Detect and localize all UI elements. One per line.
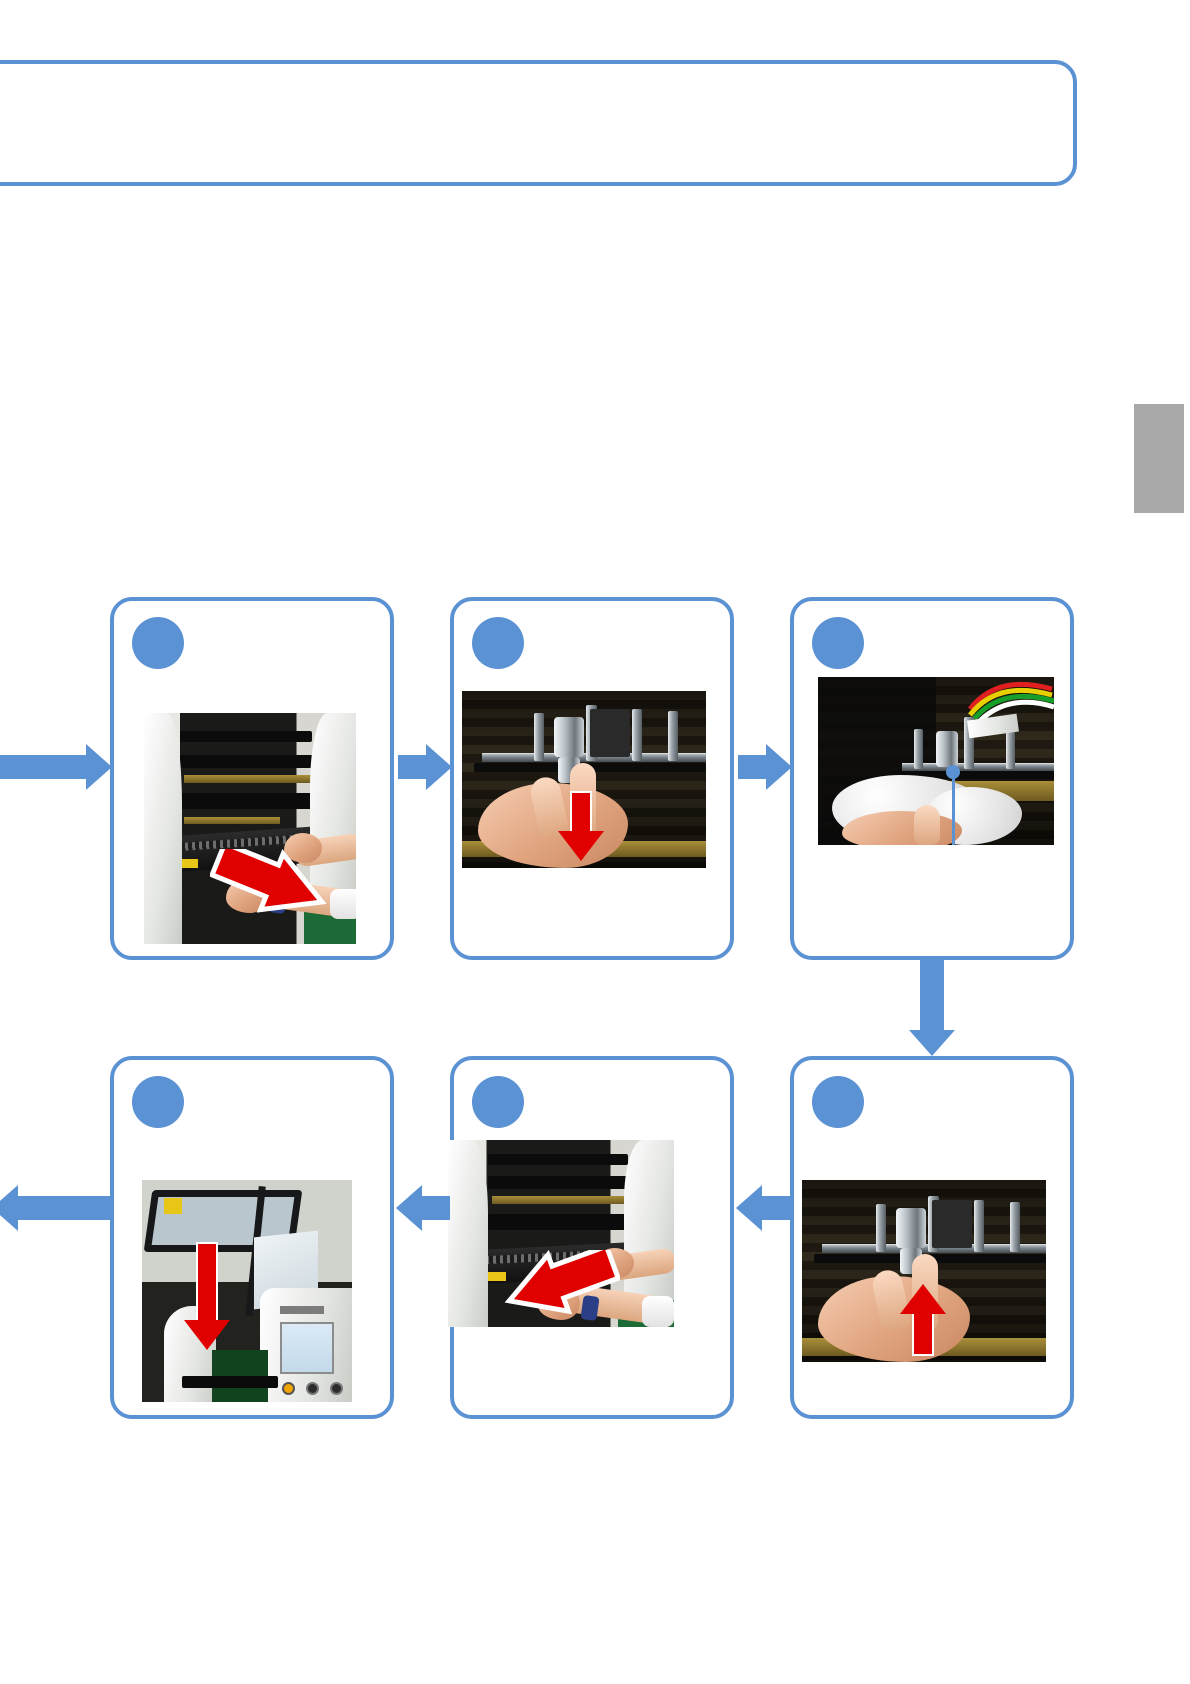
machine-cover-left: [144, 713, 182, 944]
conveyor-rail: [182, 1376, 278, 1388]
step-photo-6: [142, 1180, 352, 1402]
arrow-head: [766, 744, 792, 790]
panel-button[interactable]: [306, 1382, 319, 1395]
warning-label: [164, 1198, 182, 1214]
machine-rail: [488, 1154, 628, 1165]
flow-step-card-3[interactable]: [790, 597, 1074, 960]
arrow-shaft: [398, 755, 428, 779]
red-arrow-shaft: [570, 791, 592, 835]
head-post: [914, 729, 923, 769]
arrow-head: [86, 744, 112, 790]
head-post: [534, 713, 544, 761]
flow-step-card-5[interactable]: [450, 1056, 734, 1419]
connector-in: [0, 744, 112, 790]
machine-beam: [184, 775, 312, 783]
head-post: [1010, 1202, 1020, 1252]
panel-button[interactable]: [330, 1382, 343, 1395]
step-badge-3: [812, 617, 864, 669]
machine-beam: [492, 1196, 626, 1204]
step-photo-1: [144, 713, 356, 944]
machine-beam: [184, 817, 280, 824]
step-badge-1: [132, 617, 184, 669]
red-arrow-close-cover: [184, 1242, 230, 1350]
connector-4-5: [736, 1185, 790, 1231]
arrow-head: [736, 1185, 762, 1231]
machine-rail: [488, 1214, 630, 1230]
machine-rail: [488, 1176, 636, 1189]
red-arrow-head: [184, 1320, 230, 1350]
head-post: [974, 1200, 984, 1252]
callout-leader-line: [952, 772, 955, 845]
step-photo-2: [462, 691, 706, 868]
red-arrow-pull-out: [210, 849, 330, 921]
red-arrow-head: [558, 831, 604, 861]
head-post: [632, 709, 642, 761]
connector-out: [0, 1185, 112, 1231]
connector-5-6: [396, 1185, 450, 1231]
operator-finger: [914, 805, 940, 845]
head-post: [668, 711, 678, 761]
connector-3-4: [909, 960, 955, 1056]
arrow-shaft: [16, 1196, 112, 1220]
red-arrow-shaft: [196, 1242, 218, 1322]
flow-step-card-4[interactable]: [790, 1056, 1074, 1419]
red-arrow-pull-down: [558, 791, 604, 861]
step-photo-3: [818, 677, 1054, 845]
step-badge-4: [812, 1076, 864, 1128]
arrow-shaft: [760, 1196, 790, 1220]
arrow-shaft: [920, 960, 944, 1030]
top-callout-box: [0, 60, 1077, 186]
arrow-head: [909, 1030, 955, 1056]
step-photo-4: [802, 1180, 1046, 1362]
machine-rail: [180, 731, 312, 742]
red-arrow-head: [900, 1284, 946, 1314]
arrow-head: [396, 1185, 422, 1231]
red-arrow-push-in: [504, 1250, 620, 1320]
feeder-label: [180, 859, 198, 868]
flow-step-card-6[interactable]: [110, 1056, 394, 1419]
flow-step-card-2[interactable]: [450, 597, 734, 960]
connector-1-2: [398, 744, 452, 790]
red-arrow-shaft: [912, 1310, 934, 1356]
machine-rail: [180, 755, 320, 768]
machine-cover-left: [448, 1140, 488, 1327]
head-block: [590, 709, 630, 757]
arrow-shaft: [0, 755, 86, 779]
head-block: [932, 1200, 972, 1248]
arrow-shaft: [738, 755, 768, 779]
machine-rail: [180, 793, 316, 809]
operator-sleeve: [330, 889, 356, 919]
arrow-head: [426, 744, 452, 790]
panel-brand-label: [280, 1306, 324, 1314]
panel-button[interactable]: [282, 1382, 295, 1395]
step-photo-5: [448, 1140, 674, 1327]
head-crossbar: [902, 763, 1054, 771]
nozzle-barrel: [936, 731, 958, 767]
connector-2-3: [738, 744, 792, 790]
operator-hand: [842, 811, 962, 845]
step-badge-5: [472, 1076, 524, 1128]
nozzle-barrel: [896, 1208, 926, 1248]
head-post: [876, 1204, 886, 1252]
operator-panel-screen: [280, 1322, 334, 1374]
operator-sleeve: [642, 1296, 674, 1327]
step-badge-2: [472, 617, 524, 669]
page-index-tab: [1134, 404, 1184, 513]
flow-step-card-1[interactable]: [110, 597, 394, 960]
step-badge-6: [132, 1076, 184, 1128]
nozzle-barrel: [554, 717, 584, 757]
wire-loom: [968, 679, 1054, 719]
arrow-shaft: [420, 1196, 450, 1220]
red-arrow-push-up: [900, 1284, 946, 1356]
